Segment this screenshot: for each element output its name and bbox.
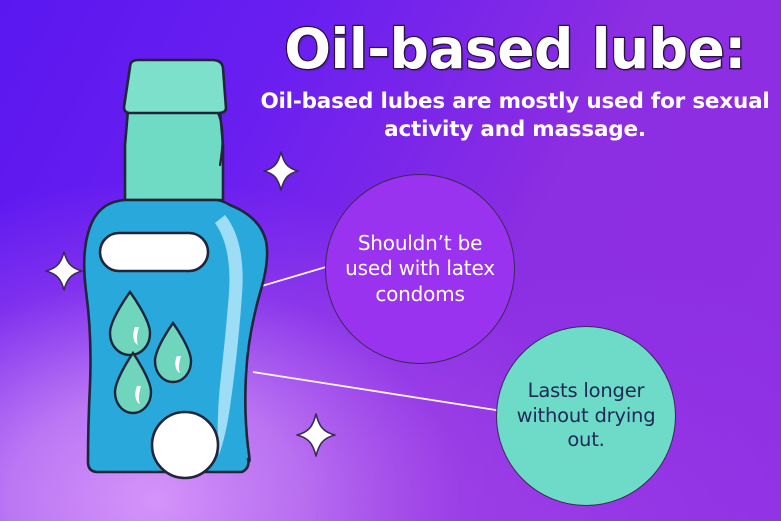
fact-bubble-latex: Shouldn’t be used with latex condoms xyxy=(325,174,515,364)
bottle-cap-collar xyxy=(125,110,223,200)
bottle-circle-accent xyxy=(152,412,218,478)
bottle-cap-lid xyxy=(124,60,226,113)
sparkle-icon xyxy=(262,150,300,192)
fact-bubble-longevity: Lasts longer without drying out. xyxy=(496,326,676,506)
connector-line-longevity xyxy=(253,372,502,411)
infographic-poster: Oil-based lube: Oil-based lubes are most… xyxy=(0,0,781,521)
sparkle-icon xyxy=(44,250,84,292)
bottle-label xyxy=(100,233,208,271)
lube-bottle-illustration xyxy=(60,55,290,480)
sparkle-icon xyxy=(295,412,337,458)
fact-bubble-latex-text: Shouldn’t be used with latex condoms xyxy=(326,231,514,308)
fact-bubble-longevity-text: Lasts longer without drying out. xyxy=(497,379,675,454)
